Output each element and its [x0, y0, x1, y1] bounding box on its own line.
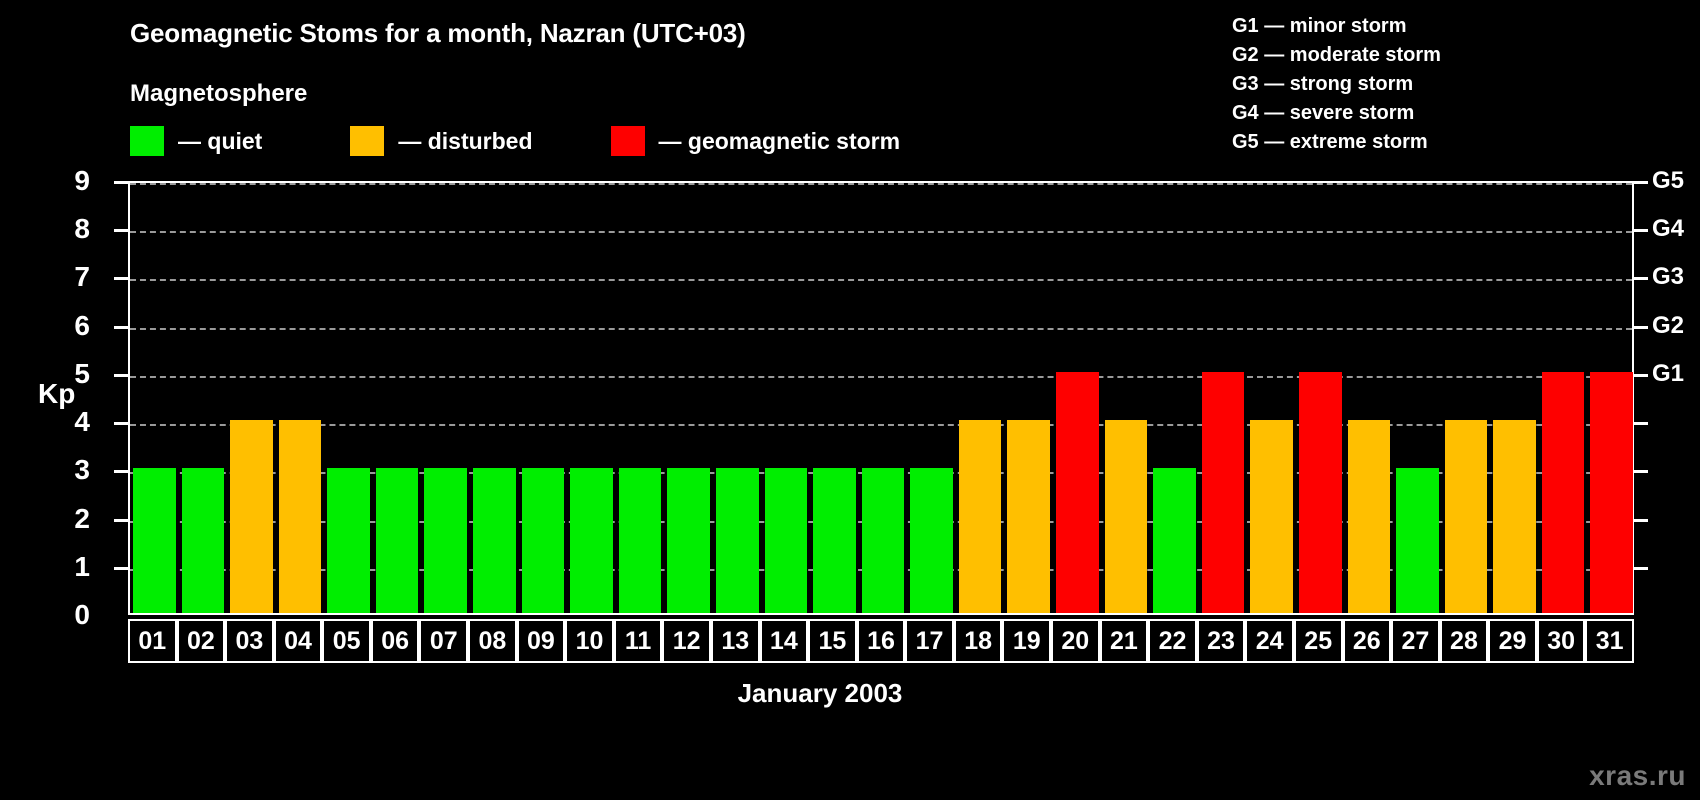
x-axis-day-22[interactable]: 22	[1148, 619, 1197, 663]
g-scale-key-line-3: G3 — strong storm	[1232, 70, 1441, 99]
gridline-kp-8	[130, 231, 1632, 233]
bar-day-15[interactable]	[813, 468, 856, 613]
g-tick-mark-kp-5	[1634, 374, 1648, 377]
y-tick-label-7: 7	[50, 261, 90, 293]
g-scale-key-line-1: G1 — minor storm	[1232, 12, 1441, 41]
bar-day-17[interactable]	[910, 468, 953, 613]
bar-day-06[interactable]	[376, 468, 419, 613]
legend: — quiet— disturbed— geomagnetic storm	[130, 126, 900, 156]
g-axis-label-G1: G1	[1652, 360, 1684, 388]
x-axis-day-11[interactable]: 11	[614, 619, 663, 663]
g-scale-key-line-4: G4 — severe storm	[1232, 99, 1441, 128]
bar-day-08[interactable]	[473, 468, 516, 613]
legend-item-disturbed: — disturbed	[350, 126, 532, 156]
bar-day-01[interactable]	[133, 468, 176, 613]
g-tick-mark-kp-7	[1634, 277, 1648, 280]
bar-day-16[interactable]	[862, 468, 905, 613]
bar-day-03[interactable]	[230, 420, 273, 613]
x-axis-day-25[interactable]: 25	[1294, 619, 1343, 663]
x-axis-day-16[interactable]: 16	[857, 619, 906, 663]
y-tick-label-6: 6	[50, 310, 90, 342]
y-tick-label-8: 8	[50, 213, 90, 245]
watermark: xras.ru	[1589, 760, 1686, 792]
x-axis-day-18[interactable]: 18	[954, 619, 1003, 663]
bar-day-07[interactable]	[424, 468, 467, 613]
y-tick-mark-7	[114, 277, 128, 280]
bar-day-22[interactable]	[1153, 468, 1196, 613]
plot-area	[128, 181, 1634, 615]
bar-day-20[interactable]	[1056, 372, 1099, 613]
bar-day-28[interactable]	[1445, 420, 1488, 613]
bar-day-05[interactable]	[327, 468, 370, 613]
bar-day-18[interactable]	[959, 420, 1002, 613]
x-axis-labels: 0102030405060708091011121314151617181920…	[128, 619, 1634, 663]
y-tick-label-4: 4	[50, 406, 90, 438]
y-tick-mark-5	[114, 374, 128, 377]
bar-day-12[interactable]	[667, 468, 710, 613]
bar-day-02[interactable]	[182, 468, 225, 613]
x-axis-day-02[interactable]: 02	[177, 619, 226, 663]
y-tick-label-2: 2	[50, 503, 90, 535]
bar-day-31[interactable]	[1590, 372, 1633, 613]
y-tick-mark-9	[114, 181, 128, 184]
gridline-kp-7	[130, 279, 1632, 281]
legend-item-storm: — geomagnetic storm	[611, 126, 901, 156]
x-axis-day-05[interactable]: 05	[322, 619, 371, 663]
bar-day-13[interactable]	[716, 468, 759, 613]
y-tick-label-3: 3	[50, 454, 90, 486]
g-scale-key-line-2: G2 — moderate storm	[1232, 41, 1441, 70]
legend-swatch-quiet	[130, 126, 164, 156]
x-axis-day-15[interactable]: 15	[808, 619, 857, 663]
x-axis-day-06[interactable]: 06	[371, 619, 420, 663]
bar-day-25[interactable]	[1299, 372, 1342, 613]
bar-day-27[interactable]	[1396, 468, 1439, 613]
magnetosphere-heading: Magnetosphere	[130, 80, 307, 108]
legend-swatch-storm	[611, 126, 645, 156]
bar-day-30[interactable]	[1542, 372, 1585, 613]
bar-day-10[interactable]	[570, 468, 613, 613]
g-axis-label-G5: G5	[1652, 167, 1684, 195]
g-tick-mark-kp-3	[1634, 470, 1648, 473]
y-tick-mark-4	[114, 422, 128, 425]
x-axis-day-03[interactable]: 03	[225, 619, 274, 663]
bar-day-11[interactable]	[619, 468, 662, 613]
page-title: Geomagnetic Stoms for a month, Nazran (U…	[130, 18, 746, 49]
y-tick-mark-1	[114, 567, 128, 570]
x-axis-day-31[interactable]: 31	[1585, 619, 1634, 663]
x-axis-day-20[interactable]: 20	[1051, 619, 1100, 663]
g-axis-label-G4: G4	[1652, 215, 1684, 243]
x-axis-day-17[interactable]: 17	[905, 619, 954, 663]
g-tick-mark-kp-4	[1634, 422, 1648, 425]
x-axis-day-10[interactable]: 10	[565, 619, 614, 663]
x-axis-day-07[interactable]: 07	[419, 619, 468, 663]
plot-inner	[130, 183, 1632, 613]
g-scale-key: G1 — minor stormG2 — moderate stormG3 — …	[1232, 12, 1441, 157]
bar-day-23[interactable]	[1202, 372, 1245, 613]
x-axis-day-01[interactable]: 01	[128, 619, 177, 663]
g-tick-mark-kp-8	[1634, 229, 1648, 232]
y-tick-mark-6	[114, 326, 128, 329]
x-axis-day-12[interactable]: 12	[662, 619, 711, 663]
x-axis-title: January 2003	[0, 678, 1700, 709]
x-axis-day-14[interactable]: 14	[760, 619, 809, 663]
x-axis-day-29[interactable]: 29	[1488, 619, 1537, 663]
x-axis-day-13[interactable]: 13	[711, 619, 760, 663]
g-tick-mark-kp-6	[1634, 326, 1648, 329]
bar-day-09[interactable]	[522, 468, 565, 613]
legend-label-quiet: — quiet	[178, 128, 262, 155]
x-axis-day-21[interactable]: 21	[1100, 619, 1149, 663]
bar-day-29[interactable]	[1493, 420, 1536, 613]
x-axis-day-19[interactable]: 19	[1002, 619, 1051, 663]
gridline-kp-9	[130, 183, 1632, 185]
gridline-kp-6	[130, 328, 1632, 330]
g-tick-mark-kp-1	[1634, 567, 1648, 570]
y-tick-label-9: 9	[50, 165, 90, 197]
x-axis-day-28[interactable]: 28	[1440, 619, 1489, 663]
y-tick-mark-8	[114, 229, 128, 232]
x-axis-title-text: January 2003	[738, 678, 903, 709]
gridline-kp-5	[130, 376, 1632, 378]
bar-day-26[interactable]	[1348, 420, 1391, 613]
bar-day-19[interactable]	[1007, 420, 1050, 613]
bar-day-04[interactable]	[279, 420, 322, 613]
y-tick-mark-3	[114, 470, 128, 473]
x-axis-day-04[interactable]: 04	[274, 619, 323, 663]
g-scale-key-line-5: G5 — extreme storm	[1232, 128, 1441, 157]
g-tick-mark-kp-2	[1634, 519, 1648, 522]
legend-label-disturbed: — disturbed	[398, 128, 532, 155]
legend-label-storm: — geomagnetic storm	[659, 128, 901, 155]
bar-day-14[interactable]	[765, 468, 808, 613]
g-axis-label-G2: G2	[1652, 312, 1684, 340]
y-tick-label-1: 1	[50, 551, 90, 583]
x-axis-day-24[interactable]: 24	[1245, 619, 1294, 663]
x-axis-day-27[interactable]: 27	[1391, 619, 1440, 663]
y-tick-mark-2	[114, 519, 128, 522]
x-axis-day-30[interactable]: 30	[1537, 619, 1586, 663]
x-axis-day-23[interactable]: 23	[1197, 619, 1246, 663]
y-tick-label-5: 5	[50, 358, 90, 390]
g-axis-label-G3: G3	[1652, 263, 1684, 291]
legend-item-quiet: — quiet	[130, 126, 262, 156]
bar-day-24[interactable]	[1250, 420, 1293, 613]
g-tick-mark-kp-9	[1634, 181, 1648, 184]
x-axis-day-26[interactable]: 26	[1343, 619, 1392, 663]
y-tick-label-0: 0	[50, 599, 90, 631]
legend-swatch-disturbed	[350, 126, 384, 156]
x-axis-day-08[interactable]: 08	[468, 619, 517, 663]
x-axis-day-09[interactable]: 09	[517, 619, 566, 663]
gridline-kp-4	[130, 424, 1632, 426]
bar-day-21[interactable]	[1105, 420, 1148, 613]
